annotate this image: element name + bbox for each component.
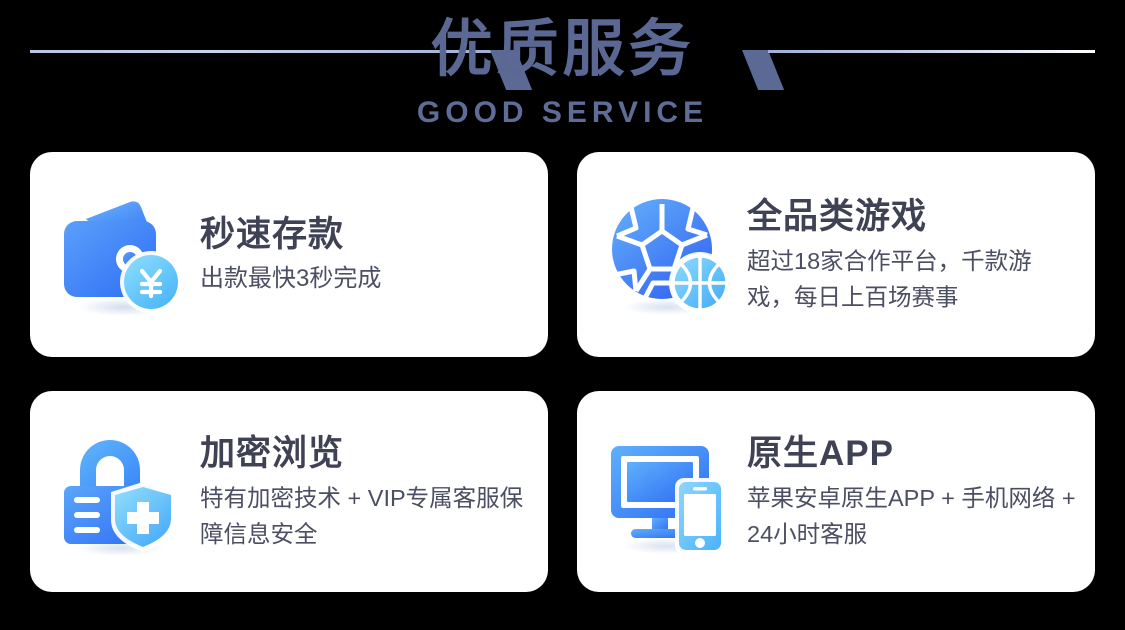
- service-card-text: 全品类游戏 超过18家合作平台，千款游戏，每日上百场赛事: [747, 195, 1077, 315]
- page-subtitle: GOOD SERVICE: [0, 96, 1125, 130]
- service-card-native-app[interactable]: 原生APP 苹果安卓原生APP + 手机网络 + 24小时客服: [577, 391, 1095, 592]
- lock-shield-icon: [58, 428, 186, 556]
- service-card-text: 原生APP 苹果安卓原生APP + 手机网络 + 24小时客服: [747, 432, 1077, 552]
- service-card-description: 超过18家合作平台，千款游戏，每日上百场赛事: [747, 243, 1077, 315]
- service-card-title: 原生APP: [747, 432, 1077, 476]
- header-rule-right: [768, 50, 1095, 53]
- service-card-description: 特有加密技术 + VIP专属客服保障信息安全: [200, 480, 530, 552]
- service-card-text: 加密浏览 特有加密技术 + VIP专属客服保障信息安全: [200, 432, 530, 552]
- service-card-title: 全品类游戏: [747, 195, 1077, 239]
- page-header: 优质服务 GOOD SERVICE: [0, 0, 1125, 148]
- service-card-games[interactable]: 全品类游戏 超过18家合作平台，千款游戏，每日上百场赛事: [577, 152, 1095, 357]
- service-card-text: 秒速存款 出款最快3秒完成: [200, 213, 530, 297]
- monitor-phone-icon: [605, 428, 733, 556]
- wallet-yen-icon: [58, 191, 186, 319]
- soccer-basketball-icon: [605, 191, 733, 319]
- service-card-deposit[interactable]: 秒速存款 出款最快3秒完成: [30, 152, 548, 357]
- service-card-description: 苹果安卓原生APP + 手机网络 + 24小时客服: [747, 480, 1077, 552]
- service-card-description: 出款最快3秒完成: [200, 261, 530, 297]
- service-card-title: 加密浏览: [200, 432, 530, 476]
- service-card-grid: 秒速存款 出款最快3秒完成: [30, 152, 1095, 593]
- service-card-title: 秒速存款: [200, 213, 530, 257]
- service-card-encryption[interactable]: 加密浏览 特有加密技术 + VIP专属客服保障信息安全: [30, 391, 548, 592]
